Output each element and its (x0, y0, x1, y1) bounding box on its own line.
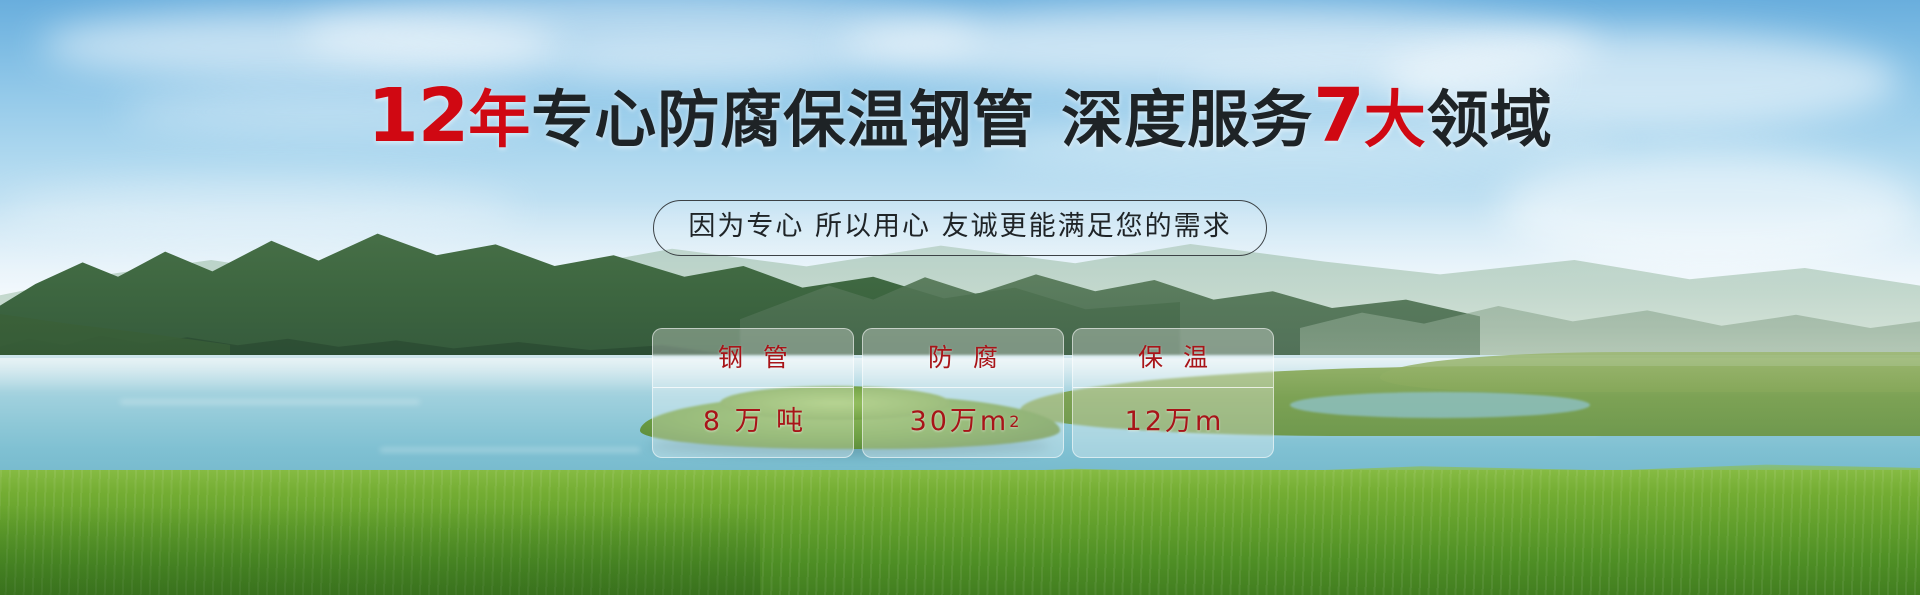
banner-headline: 12年专心防腐保温钢管深度服务7大领域 (0, 80, 1920, 156)
headline-years-unit: 年 (468, 83, 531, 156)
stat-card-steel-pipe[interactable]: 钢 管 8 万 吨 (652, 328, 854, 458)
water-streak (120, 400, 420, 404)
headline-fields-text: 领域 (1427, 83, 1553, 156)
stat-card-label: 钢 管 (712, 329, 794, 387)
stat-card-label: 保 温 (1132, 329, 1214, 387)
stat-card-value: 30万m2 (907, 388, 1020, 457)
marsh-pond (1290, 392, 1590, 418)
stat-card-anticorrosion[interactable]: 防 腐 30万m2 (862, 328, 1064, 458)
stat-card-label: 防 腐 (922, 329, 1004, 387)
marsh-bank-far (1380, 352, 1920, 392)
subtitle-container: 因为专心 所以用心 友诚更能满足您的需求 (0, 200, 1920, 256)
stat-card-insulation[interactable]: 保 温 12万m (1072, 328, 1274, 458)
stat-card-value-text: 30万m (910, 406, 1010, 438)
headline-fields-unit: 大 (1364, 83, 1427, 156)
headline-main-text: 专心防腐保温钢管 (531, 83, 1035, 156)
stat-card-value: 12万m (1122, 388, 1225, 457)
stat-card-value-superscript: 2 (1009, 406, 1019, 438)
headline-years-number: 12 (367, 73, 468, 159)
hero-banner: 12年专心防腐保温钢管深度服务7大领域 因为专心 所以用心 友诚更能满足您的需求… (0, 0, 1920, 595)
subtitle-pill: 因为专心 所以用心 友诚更能满足您的需求 (653, 200, 1266, 256)
cloud-decoration (560, 40, 860, 76)
stat-card-value: 8 万 吨 (700, 388, 806, 457)
stats-card-group: 钢 管 8 万 吨 防 腐 30万m2 保 温 12万m (652, 328, 1274, 458)
headline-service-text: 深度服务 (1061, 83, 1313, 156)
headline-fields-number: 7 (1313, 73, 1364, 159)
stat-card-value-text: 12万m (1125, 406, 1225, 438)
grass-shading (0, 505, 760, 595)
stat-card-value-text: 8 万 吨 (703, 406, 806, 438)
water-streak (380, 448, 640, 452)
